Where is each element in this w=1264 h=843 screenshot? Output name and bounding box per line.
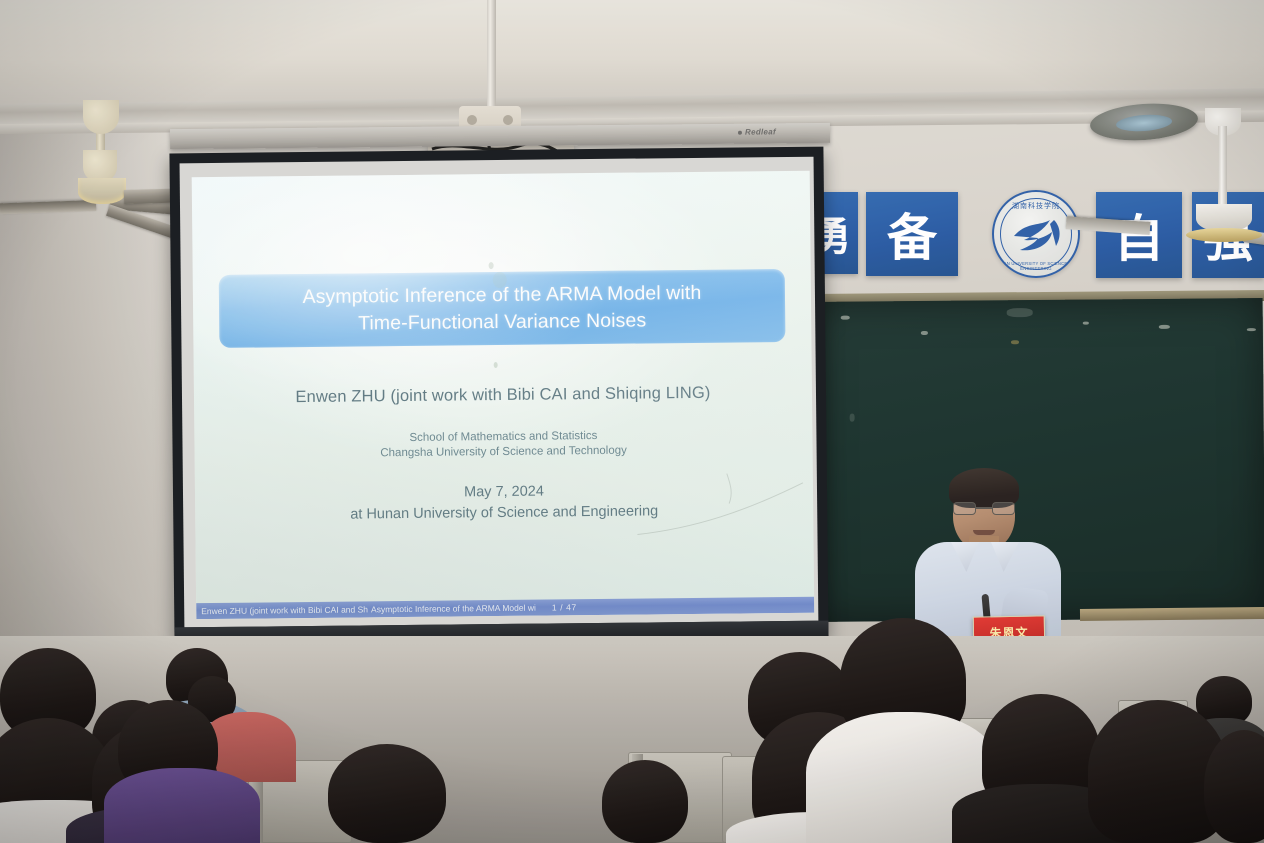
fan-right-rod (1218, 126, 1227, 208)
audience-shoulders-front (104, 768, 260, 843)
screen-blemish (489, 262, 494, 269)
wall-placard-char: 备 (887, 198, 937, 270)
fan-left-hub (78, 178, 126, 204)
fan-right-light-ring (1186, 228, 1262, 242)
audience-head-front (328, 744, 446, 843)
wall-placard-char: 自 (1114, 199, 1164, 271)
screen-blemish (494, 362, 498, 368)
presentation-slide: Asymptotic Inference of the ARMA Model w… (192, 171, 815, 619)
slide-footer-center: Asymptotic Inference of the ARMA Model w… (371, 603, 536, 615)
presenter-glasses (953, 502, 1015, 515)
slide-affiliation-line2: Changsha University of Science and Techn… (380, 445, 627, 460)
slide-footer-page-number: 1 / 47 (536, 602, 577, 612)
slide-footer-left: Enwen ZHU (joint work with Bibi CAI and … (196, 604, 368, 616)
slide-date: May 7, 2024 (464, 484, 544, 501)
projection-screen: Asymptotic Inference of the ARMA Model w… (169, 147, 828, 646)
slide-venue: at Hunan University of Science and Engin… (350, 503, 658, 522)
seal-top-text: 湖南科技学院 (994, 201, 1078, 211)
projector-mount-rod (487, 0, 496, 108)
slide-affiliation: School of Mathematics and Statistics Cha… (194, 427, 812, 464)
slide-affiliation-line1: School of Mathematics and Statistics (409, 430, 597, 444)
slide-footer-bar: Enwen ZHU (joint work with Bibi CAI and … (196, 597, 814, 619)
seal-bottom-text: HUNAN UNIVERSITY OF SCIENCE AND ENGINEER… (994, 261, 1078, 271)
slide-author: Enwen ZHU (joint work with Bibi CAI and … (194, 383, 812, 408)
presenter-mouth (973, 530, 995, 535)
screen-surface: Asymptotic Inference of the ARMA Model w… (180, 157, 819, 628)
slide-title-box: Asymptotic Inference of the ARMA Model w… (219, 269, 786, 348)
screen-scratch (635, 471, 806, 543)
wall-placard-1: 备 (866, 192, 958, 276)
screen-brand-label: Redleaf (745, 127, 776, 136)
slide-title-line2: Time-Functional Variance Noises (358, 309, 646, 334)
audience-head-front (602, 760, 688, 843)
seal-bird-icon (1010, 216, 1066, 258)
ceiling-light-lens (1116, 113, 1173, 133)
university-seal: 湖南科技学院 HUNAN UNIVERSITY OF SCIENCE AND E… (992, 190, 1080, 278)
slide-title-line1: Asymptotic Inference of the ARMA Model w… (302, 281, 701, 307)
slide-title: Asymptotic Inference of the ARMA Model w… (302, 279, 701, 337)
fan-left-canopy (83, 100, 119, 134)
lecture-hall-scene: 勇 备 自 强 湖南科技学院 HUNAN UNIVERSITY OF SCIEN… (0, 0, 1264, 843)
chalk-tray (1080, 607, 1264, 621)
wall-placard-2: 自 (1096, 192, 1182, 278)
